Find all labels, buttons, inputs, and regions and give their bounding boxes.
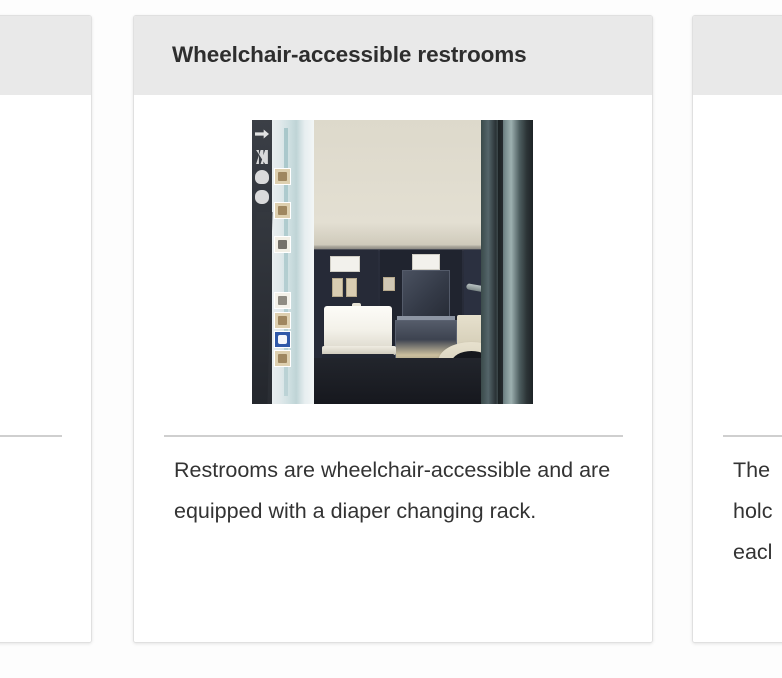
card-carousel[interactable]: ne, Wheelchair-accessible restrooms <box>0 0 782 678</box>
card-divider-left <box>0 435 62 437</box>
wheelchair-sign-icon <box>274 331 291 348</box>
wall-trim-line <box>314 246 481 249</box>
card-body-left: ne, <box>0 95 91 642</box>
stairs-icon <box>255 150 269 164</box>
card-header-center: Wheelchair-accessible restrooms <box>134 16 652 95</box>
door-strip-tail <box>252 212 273 404</box>
door-jamb <box>481 120 533 404</box>
exit-arrow-icon <box>255 127 269 141</box>
card-divider-right <box>723 435 782 437</box>
card-description-right: The holc eacl <box>733 450 782 573</box>
wall-sign-2-icon <box>412 254 440 270</box>
paper-dispenser-icon <box>346 278 357 297</box>
carousel-card-left[interactable]: ne, <box>0 15 92 643</box>
sign-plaque-3-icon <box>274 236 291 253</box>
sign-plaque-1-icon <box>274 168 291 185</box>
carousel-card-center[interactable]: Wheelchair-accessible restrooms <box>133 15 653 643</box>
switch-plate-icon <box>383 277 395 291</box>
wall-sign-icon <box>330 256 360 272</box>
carousel-card-right[interactable]: The holc eacl <box>692 15 782 643</box>
metal-cabinet <box>402 270 450 322</box>
sign-plaque-4-icon <box>274 292 291 309</box>
sink-basin <box>324 306 392 350</box>
restroom-floor <box>314 358 481 404</box>
card-description-left: ne, <box>0 450 73 491</box>
restroom-photo <box>252 120 533 404</box>
restroom-photo-scene <box>252 120 533 404</box>
card-body-right: The holc eacl <box>693 95 782 642</box>
sign-plaque-2-icon <box>274 202 291 219</box>
restroom-pictogram-icon <box>255 190 269 204</box>
card-header-right <box>693 16 782 95</box>
sign-plaque-7-icon <box>274 350 291 367</box>
card-description-center: Restrooms are wheelchair-accessible and … <box>174 450 614 532</box>
soap-dispenser-icon <box>332 278 343 297</box>
card-header-left <box>0 16 91 95</box>
card-title-center: Wheelchair-accessible restrooms <box>172 42 527 68</box>
door-sign-strip <box>252 120 272 404</box>
wheelchair-pictogram-icon <box>255 170 269 184</box>
card-divider-center <box>164 435 623 437</box>
card-body-center: Restrooms are wheelchair-accessible and … <box>134 95 652 642</box>
sign-plaque-5-icon <box>274 312 291 329</box>
door-jamb-edge <box>498 120 503 404</box>
